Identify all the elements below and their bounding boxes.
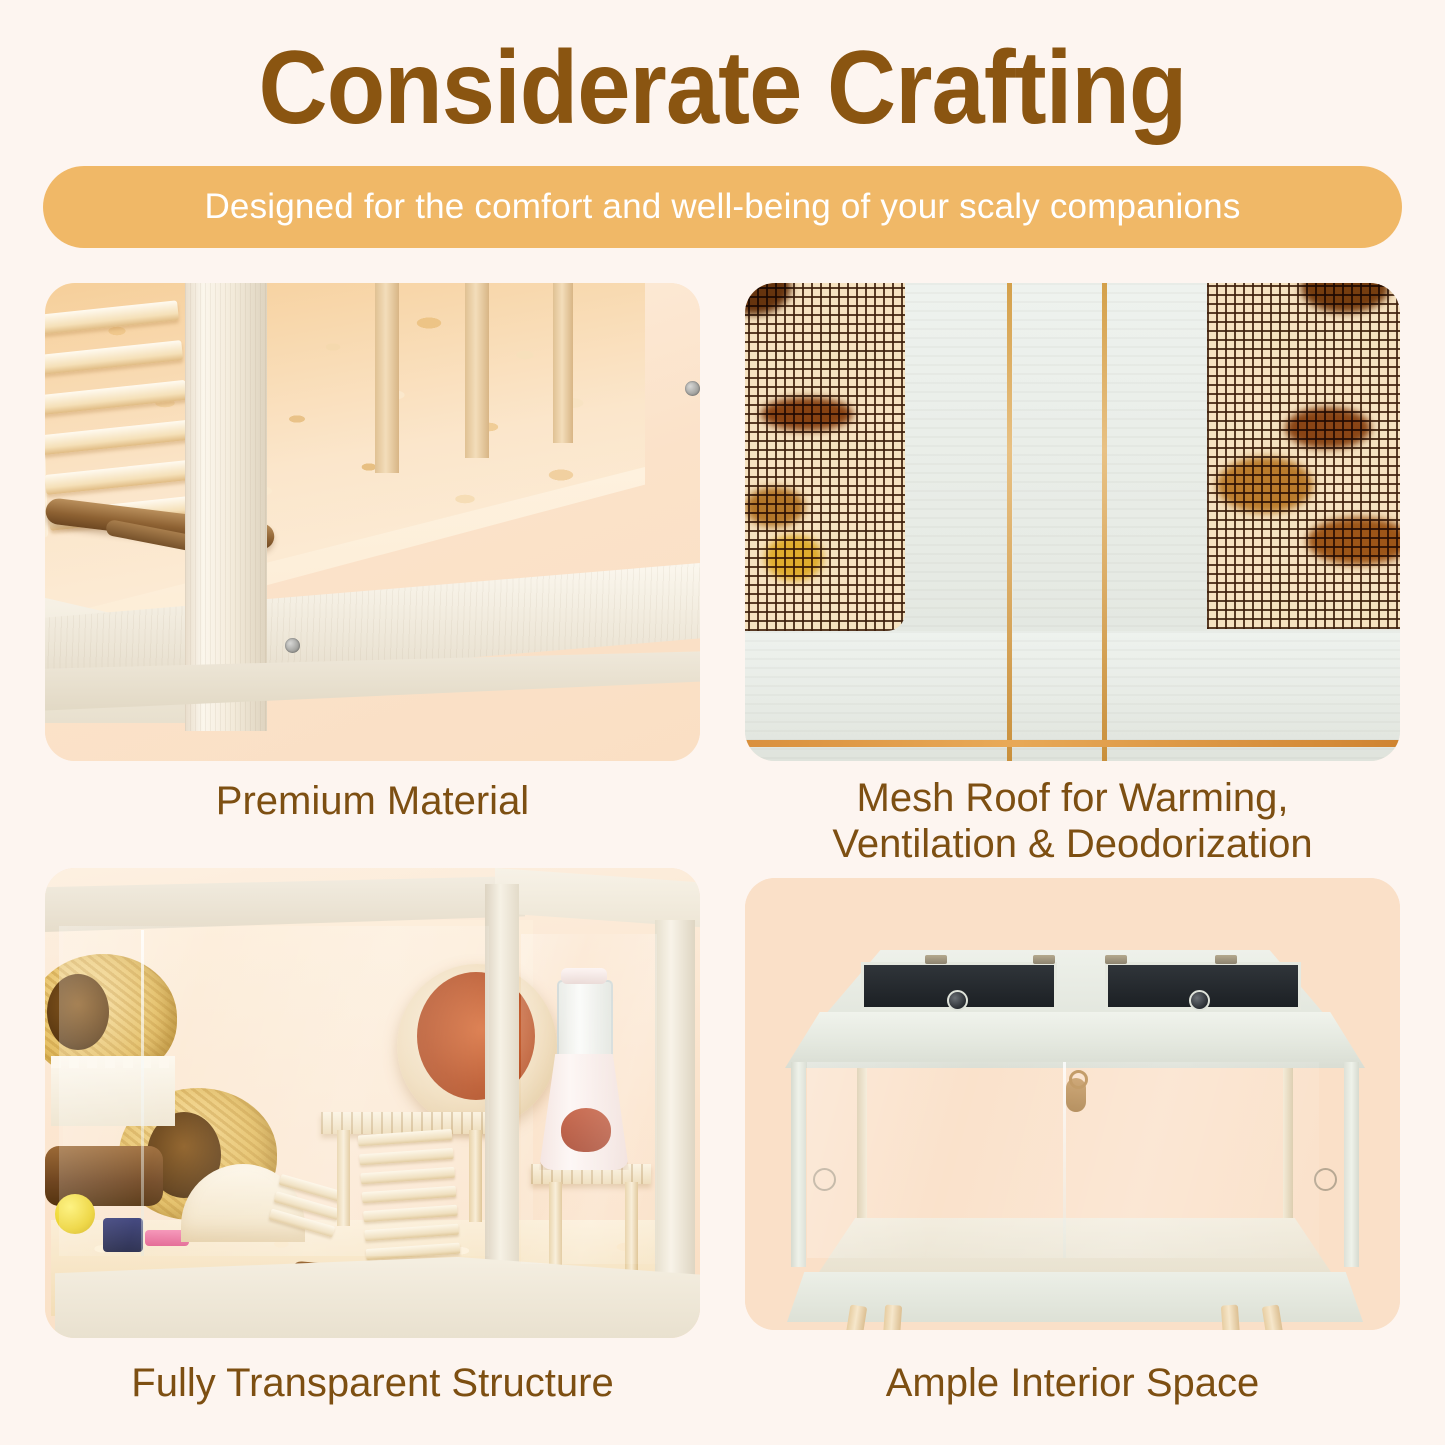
- roof-hinge: [1105, 955, 1127, 964]
- subtitle-text: Designed for the comfort and well-being …: [204, 187, 1240, 227]
- top-rail: [785, 1012, 1365, 1068]
- caption-transparent-structure: Fully Transparent Structure: [45, 1360, 700, 1406]
- inner-left-post: [857, 1068, 867, 1228]
- image-panel-premium-material: [45, 283, 700, 761]
- caption-mesh-roof: Mesh Roof for Warming, Ventilation & Deo…: [745, 775, 1400, 867]
- step: [359, 1148, 454, 1166]
- ladder-rung: [45, 340, 183, 376]
- left-corner-post: [791, 1062, 806, 1267]
- ladder-rung: [45, 459, 196, 495]
- right-post: [655, 920, 695, 1320]
- acrylic-panel-edge: [141, 930, 144, 1256]
- mesh-shadow-blob: [1285, 407, 1371, 449]
- caption-ample-interior: Ample Interior Space: [745, 1360, 1400, 1406]
- ladder-rung: [45, 420, 192, 456]
- image-panel-mesh-roof: [745, 283, 1400, 761]
- step: [363, 1205, 458, 1223]
- subtitle-banner: Designed for the comfort and well-being …: [43, 166, 1402, 248]
- water-bottle-cap: [561, 968, 607, 984]
- mesh-shadow-blob: [745, 487, 805, 527]
- ladder-rung: [45, 380, 187, 416]
- shelf-leg: [625, 1182, 638, 1272]
- roof-seam: [1102, 283, 1107, 761]
- corner-post: [485, 884, 519, 1304]
- acrylic-wall-seam: [1063, 1062, 1066, 1258]
- hut-entrance: [47, 974, 109, 1050]
- roof-hinge: [1215, 955, 1237, 964]
- ladder-rung: [45, 300, 179, 336]
- mesh-highlight-blob: [765, 535, 823, 581]
- page-title: Considerate Crafting: [58, 28, 1387, 148]
- inner-right-post: [1283, 1068, 1293, 1228]
- water-bottle-reservoir: [557, 980, 613, 1060]
- platform-leg: [469, 1130, 482, 1222]
- image-panel-ample-interior: [745, 878, 1400, 1330]
- screw-icon: [285, 638, 300, 653]
- mesh-shadow-blob: [761, 397, 853, 431]
- wire-mesh-panel-right: [1207, 283, 1400, 629]
- right-corner-post: [1344, 1062, 1359, 1267]
- wood-post: [465, 283, 489, 458]
- brass-trim-edge: [745, 740, 1400, 747]
- platform-leg: [337, 1130, 350, 1226]
- wood-post: [375, 283, 399, 473]
- step: [364, 1224, 459, 1242]
- panel-grommet-left: [813, 1168, 836, 1191]
- wooden-fence: [51, 1056, 175, 1126]
- toy-ball: [55, 1194, 95, 1234]
- wire-mesh-panel-left: [745, 283, 905, 631]
- panel-grommet-right: [1314, 1168, 1337, 1191]
- hamster-cage: [785, 950, 1365, 1280]
- mesh-shadow-blob: [745, 283, 791, 315]
- roof-hinge: [1033, 955, 1055, 964]
- mesh-shadow-blob: [1301, 283, 1389, 313]
- roof-knob-right[interactable]: [1189, 990, 1210, 1011]
- toy-figure: [103, 1218, 143, 1252]
- shelf-leg: [549, 1182, 562, 1274]
- caption-line-2: Ventilation & Deodorization: [745, 821, 1400, 867]
- step: [362, 1186, 457, 1204]
- roof-knob-left[interactable]: [947, 990, 968, 1011]
- mesh-shadow-blob: [1217, 457, 1313, 513]
- roof-hinge: [925, 955, 947, 964]
- screw-icon: [685, 381, 700, 396]
- step: [360, 1167, 455, 1185]
- caption-line-1: Mesh Roof for Warming,: [745, 775, 1400, 821]
- mesh-shadow-blob: [1307, 517, 1400, 565]
- image-panel-transparent-structure: [45, 868, 700, 1338]
- wood-post: [553, 283, 573, 443]
- caption-premium-material: Premium Material: [45, 778, 700, 824]
- latch-ring-icon: [1069, 1070, 1088, 1089]
- water-bottle-window: [561, 1108, 611, 1152]
- roof-seam: [1007, 283, 1012, 761]
